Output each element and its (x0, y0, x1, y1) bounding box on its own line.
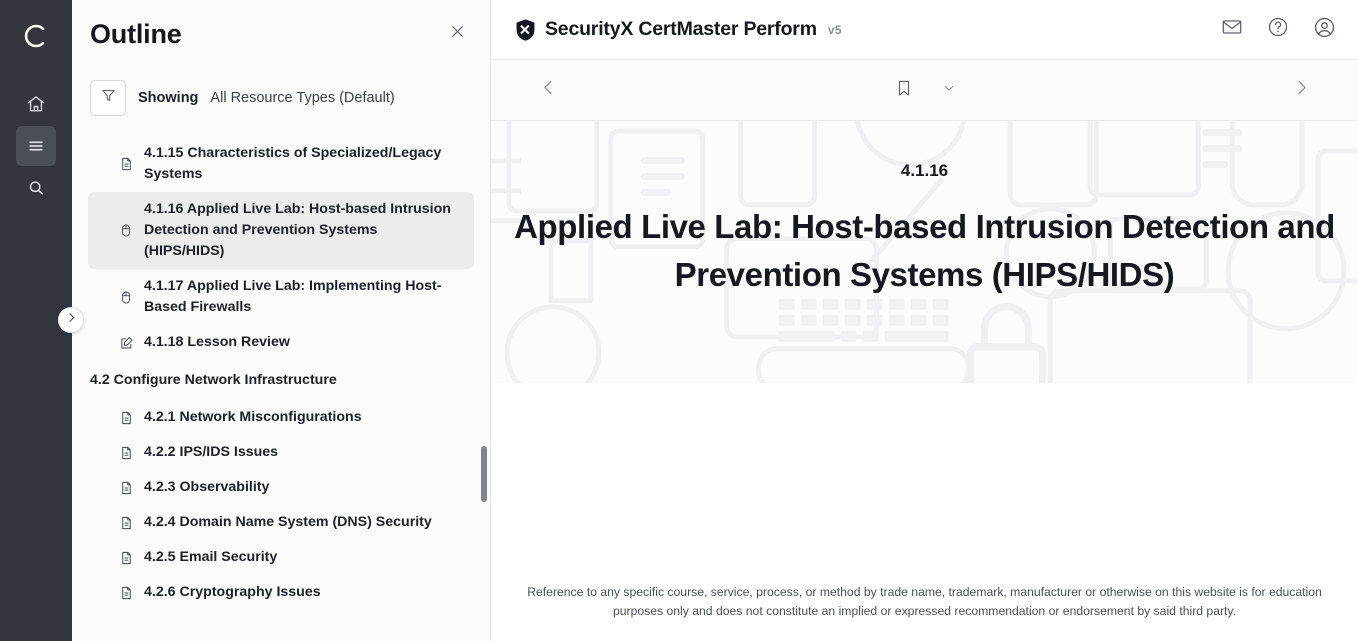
close-icon (448, 22, 467, 46)
app-root: Outline Showing All Resource Types (Defa… (0, 0, 1358, 641)
showing-value[interactable]: All Resource Types (Default) (210, 90, 394, 106)
list-item-label: 4.2.2 IPS/IDS Issues (144, 442, 278, 463)
lesson-number: 4.1.16 (503, 161, 1346, 181)
document-icon (118, 409, 134, 427)
rail-item-outline[interactable] (16, 126, 56, 166)
list-item-label: 4.2.5 Email Security (144, 547, 277, 568)
funnel-icon (100, 87, 117, 109)
list-item[interactable]: 4.1.18 Lesson Review (88, 325, 474, 360)
list-item[interactable]: 4.2.5 Email Security (88, 540, 474, 575)
mouse-icon (118, 288, 134, 306)
chevron-left-icon (539, 78, 558, 102)
bookmark-button[interactable] (890, 75, 918, 105)
list-item[interactable]: 4.2.3 Observability (88, 470, 474, 505)
navbar-center (491, 75, 1358, 105)
search-icon (26, 178, 46, 198)
chevron-right-icon (1292, 78, 1311, 102)
list-item[interactable]: 4.2.2 IPS/IDS Issues (88, 435, 474, 470)
document-icon (118, 444, 134, 462)
list-item[interactable]: 4.2.1 Network Misconfigurations (88, 400, 474, 435)
page-title: Outline (90, 19, 442, 50)
mail-icon (1221, 16, 1243, 43)
circle-c-logo[interactable] (12, 12, 60, 60)
list-item[interactable]: 4.2.6 Cryptography Issues (88, 575, 474, 610)
home-icon (26, 94, 46, 114)
menu-icon (26, 136, 46, 156)
rail-item-home[interactable] (16, 84, 56, 124)
main-pane: SecurityX CertMaster Perform v5 (491, 0, 1358, 641)
rail-item-search[interactable] (16, 168, 56, 208)
list-item-label: 4.1.18 Lesson Review (144, 332, 290, 353)
outline-section-header[interactable]: 4.2 Configure Network Infrastructure (72, 360, 490, 400)
panel-expand-handle[interactable] (58, 307, 84, 333)
list-item-label: 4.1.15 Characteristics of Specialized/Le… (144, 143, 452, 185)
list-item[interactable]: 4.1.15 Characteristics of Specialized/Le… (88, 136, 474, 192)
brand-name: SecurityX CertMaster Perform (545, 18, 817, 41)
appbar-actions (1218, 16, 1338, 44)
lesson-title: Applied Live Lab: Host-based Intrusion D… (503, 203, 1346, 299)
brand-version: v5 (828, 23, 842, 37)
showing-label: Showing (138, 90, 198, 106)
chevron-right-icon (65, 311, 78, 329)
document-icon (118, 479, 134, 497)
outline-tree: 4.1.15 Characteristics of Specialized/Le… (72, 136, 490, 610)
mouse-icon (118, 222, 134, 240)
list-item[interactable]: 4.1.17 Applied Live Lab: Implementing Ho… (88, 269, 474, 325)
list-item-label: 4.2.3 Observability (144, 477, 269, 498)
lesson-hero-banner: 4.1.16 Applied Live Lab: Host-based Intr… (491, 121, 1358, 383)
pencil-square-icon (118, 334, 134, 352)
help-button[interactable] (1264, 16, 1292, 44)
list-item[interactable]: 4.1.16 Applied Live Lab: Host-based Intr… (88, 192, 474, 269)
outline-panel: Outline Showing All Resource Types (Defa… (72, 0, 491, 641)
list-item-label: 4.2.1 Network Misconfigurations (144, 407, 362, 428)
chevron-down-icon (942, 81, 956, 100)
content-navbar (491, 60, 1358, 121)
hero-content: 4.1.16 Applied Live Lab: Host-based Intr… (491, 161, 1358, 299)
next-page-button[interactable] (1284, 73, 1318, 107)
document-icon (118, 514, 134, 532)
list-item[interactable]: 4.2.4 Domain Name System (DNS) Security (88, 505, 474, 540)
app-header: SecurityX CertMaster Perform v5 (491, 0, 1358, 60)
brand: SecurityX CertMaster Perform v5 (515, 18, 842, 42)
outline-header: Outline (72, 0, 490, 68)
account-button[interactable] (1310, 16, 1338, 44)
lesson-content-body: Reference to any specific course, servic… (491, 383, 1358, 641)
list-item-label: 4.1.17 Applied Live Lab: Implementing Ho… (144, 276, 452, 318)
previous-page-button[interactable] (531, 73, 565, 107)
mail-button[interactable] (1218, 16, 1246, 44)
list-item-label: 4.2.4 Domain Name System (DNS) Security (144, 512, 432, 533)
outline-scrollbar-thumb[interactable] (481, 446, 487, 502)
disclaimer-text: Reference to any specific course, servic… (491, 583, 1358, 621)
document-icon (118, 155, 134, 173)
bookmark-icon (895, 77, 913, 104)
list-item-label: 4.2.6 Cryptography Issues (144, 582, 321, 603)
help-circle-icon (1267, 16, 1289, 43)
document-icon (118, 549, 134, 567)
filter-button[interactable] (90, 80, 126, 116)
user-account-icon (1313, 16, 1336, 44)
outline-list: 4.1.15 Characteristics of Specialized/Le… (72, 128, 490, 641)
document-icon (118, 584, 134, 602)
close-outline-button[interactable] (442, 19, 472, 49)
list-item-label: 4.1.16 Applied Live Lab: Host-based Intr… (144, 199, 452, 262)
filter-row: Showing All Resource Types (Default) (72, 68, 490, 128)
bookmark-dropdown-button[interactable] (938, 79, 960, 101)
shield-icon (515, 18, 536, 42)
outline-scrollbar[interactable] (481, 128, 487, 641)
left-rail (0, 0, 72, 641)
